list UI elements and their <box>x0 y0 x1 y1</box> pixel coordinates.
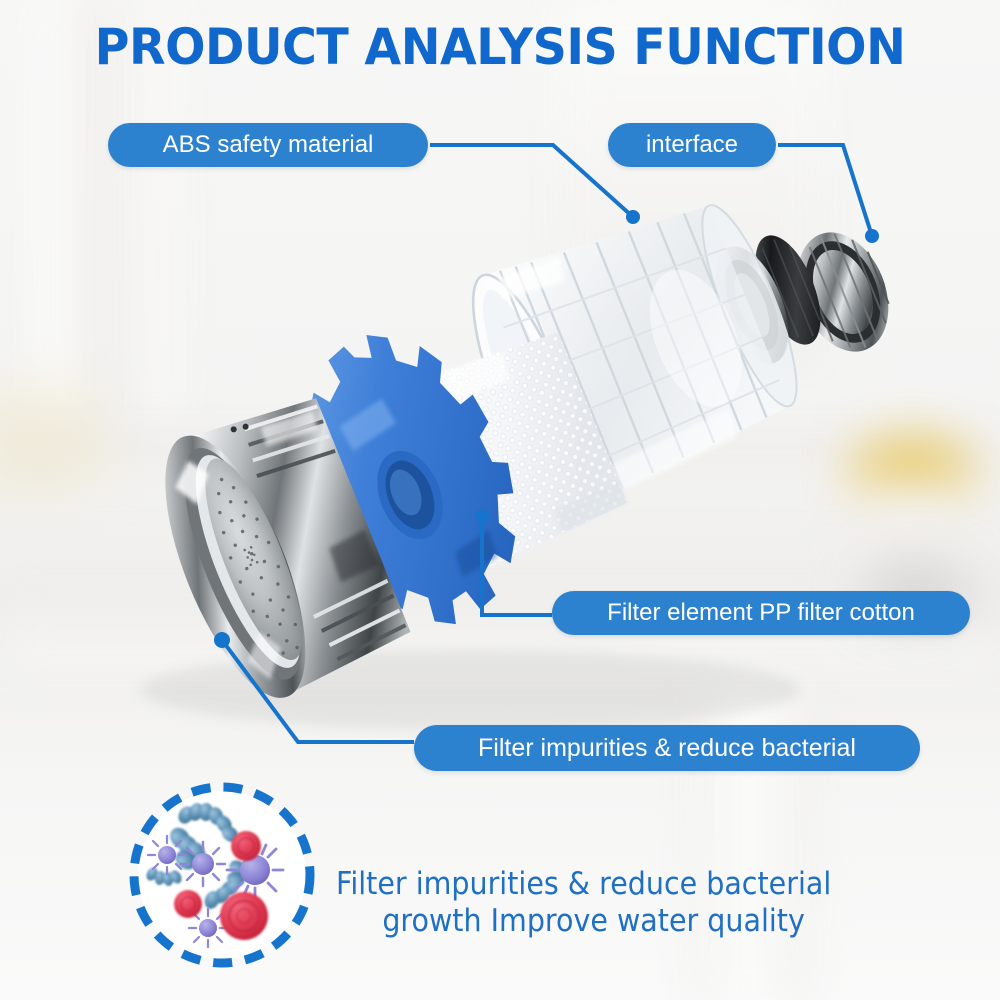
spiky-virus-2 <box>181 842 225 886</box>
red-cell-1 <box>231 831 261 861</box>
bottom-caption: Filter impurities & reduce bacterial gro… <box>336 866 888 940</box>
infographic-canvas: PRODUCT ANALYSIS FUNCTION <box>0 0 1000 1000</box>
bacteria-circle-graphic <box>0 0 1000 1000</box>
spiky-virus-1 <box>148 836 186 874</box>
red-cell-2 <box>174 890 202 918</box>
red-cell-3 <box>220 892 268 940</box>
caption-line-2: growth Improve water quality <box>336 903 851 940</box>
caption-line-1: Filter impurities & reduce bacterial <box>336 866 888 903</box>
